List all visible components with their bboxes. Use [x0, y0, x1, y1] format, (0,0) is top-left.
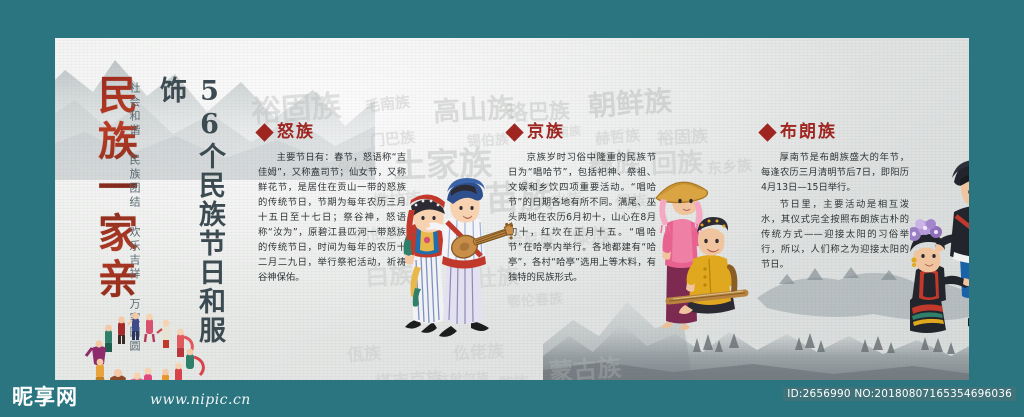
article-heading-blang: 布朗族 — [761, 124, 909, 141]
watermark-name: 锡伯族 — [467, 129, 510, 151]
dancing-figures-circle-illustration — [74, 310, 219, 380]
article-column-nu: 怒族 主要节日有：春节，怒语称“吉佳姆”，又称盍司节；仙女节，又称鲜花节，是居住… — [258, 124, 406, 287]
image-id-tag: ID:2656990 NO:20180807165354696036 — [783, 387, 1016, 401]
title-block: 民族一家亲 56个民族节日和服饰 社会和谐 民族团结 欢乐吉祥 万家团圆 — [69, 60, 254, 370]
paragraph: 节日里，主要活动是相互泼水，其仪式完全按照布朗族古朴的传统方式——迎接太阳的习俗… — [761, 197, 909, 272]
paper-background: 裕固族毛南族高山族珞巴族朝鲜族门巴族锡伯族毛南族赫哲族裕固族保安族土家族彝族回族… — [55, 38, 969, 380]
article-column-jing: 京族 京族岁时习俗中隆重的民族节日为“唱哈节”，包括祀神、祭祖、文娱和乡饮四项重… — [508, 124, 656, 287]
watermark-name: 佤族 — [346, 339, 382, 366]
watermark-name: 塔吉克族 — [374, 364, 444, 380]
paragraph: 主要节日有：春节，怒语称“吉佳姆”，又称盍司节；仙女节，又称鲜花节，是居住在贡山… — [258, 150, 406, 285]
article-body-blang: 厚南节是布朗族盛大的年节，每逢农历三月清明节后7日，即阳历4月13日—15日举行… — [761, 150, 909, 272]
diamond-bullet-icon — [255, 123, 273, 141]
article-heading-nu: 怒族 — [258, 124, 406, 141]
watermark-name: 鄂伦春族 — [506, 288, 563, 312]
nipic-logo: 昵享网 — [12, 381, 78, 411]
nipic-url: www.nipic.cn — [150, 392, 251, 408]
watermark-name: 蒙古族 — [548, 348, 622, 380]
article-title-jing: 京族 — [527, 124, 565, 141]
article-body-nu: 主要节日有：春节，怒语称“吉佳姆”，又称盍司节；仙女节，又称鲜花节，是居住在贡山… — [258, 150, 406, 285]
illustration-blang-pair — [910, 160, 969, 342]
article-title-nu: 怒族 — [277, 124, 315, 141]
site-watermark-bar: 昵享网 www.nipic.cn ID:2656990 NO:201808071… — [0, 379, 1024, 417]
article-heading-jing: 京族 — [508, 124, 656, 141]
illustration-jing-pair — [649, 171, 761, 337]
paragraph: 京族岁时习俗中隆重的民族节日为“唱哈节”，包括祀神、祭祖、文娱和乡饮四项重要活动… — [508, 150, 656, 285]
watermark-name: 达斡尔族 — [437, 367, 490, 380]
watermark-name: 高山族 — [432, 86, 515, 129]
diamond-bullet-icon — [758, 123, 776, 141]
poster-canvas: 裕固族毛南族高山族珞巴族朝鲜族门巴族锡伯族毛南族赫哲族裕固族保安族土家族彝族回族… — [0, 0, 1024, 417]
article-body-jing: 京族岁时习俗中隆重的民族节日为“唱哈节”，包括祀神、祭祖、文娱和乡饮四项重要活动… — [508, 150, 656, 285]
paragraph: 厚南节是布朗族盛大的年节，每逢农历三月清明节后7日，即阳历4月13日—15日举行… — [761, 150, 909, 195]
watermark-name: 朝鲜族 — [587, 79, 674, 125]
article-column-blang: 布朗族 厚南节是布朗族盛大的年节，每逢农历三月清明节后7日，即阳历4月13日—1… — [761, 124, 909, 274]
diamond-bullet-icon — [505, 123, 523, 141]
illustration-nu-couple — [385, 170, 513, 342]
watermark-name: 毛南族 — [364, 91, 411, 117]
watermark-name: 裕固族 — [656, 122, 708, 150]
article-title-blang: 布朗族 — [780, 124, 837, 141]
